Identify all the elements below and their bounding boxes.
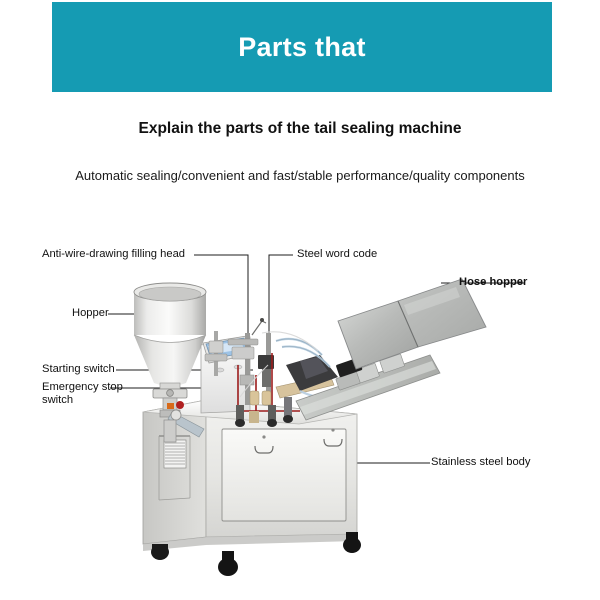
page-tagline: Automatic sealing/convenient and fast/st… <box>0 168 600 183</box>
callout-steel-word-code: Steel word code <box>297 248 377 261</box>
hose-hopper-graphic <box>296 279 486 420</box>
callout-hose-hopper: Hose hopper <box>459 276 527 289</box>
leader-steel-word-code <box>269 255 293 347</box>
machine-diagram: Anti-wire-drawing filling head Hopper St… <box>0 215 600 600</box>
callout-anti-wire-drawing-filling-head: Anti-wire-drawing filling head <box>42 248 185 261</box>
emergency-stop-switch-graphic <box>176 401 184 409</box>
cabinet-door-panel <box>222 429 346 521</box>
banner-title: Parts that <box>238 34 366 61</box>
page-banner: Parts that <box>52 2 552 92</box>
callout-hopper: Hopper <box>72 307 109 320</box>
callout-emergency-stop-switch: Emergency stop switch <box>42 381 134 407</box>
callout-stainless-steel-body: Stainless steel body <box>431 456 531 469</box>
callout-starting-switch: Starting switch <box>42 363 115 376</box>
page-subtitle: Explain the parts of the tail sealing ma… <box>0 120 600 138</box>
page-root: Parts that Explain the parts of the tail… <box>0 0 600 600</box>
machine-illustration <box>0 215 600 600</box>
